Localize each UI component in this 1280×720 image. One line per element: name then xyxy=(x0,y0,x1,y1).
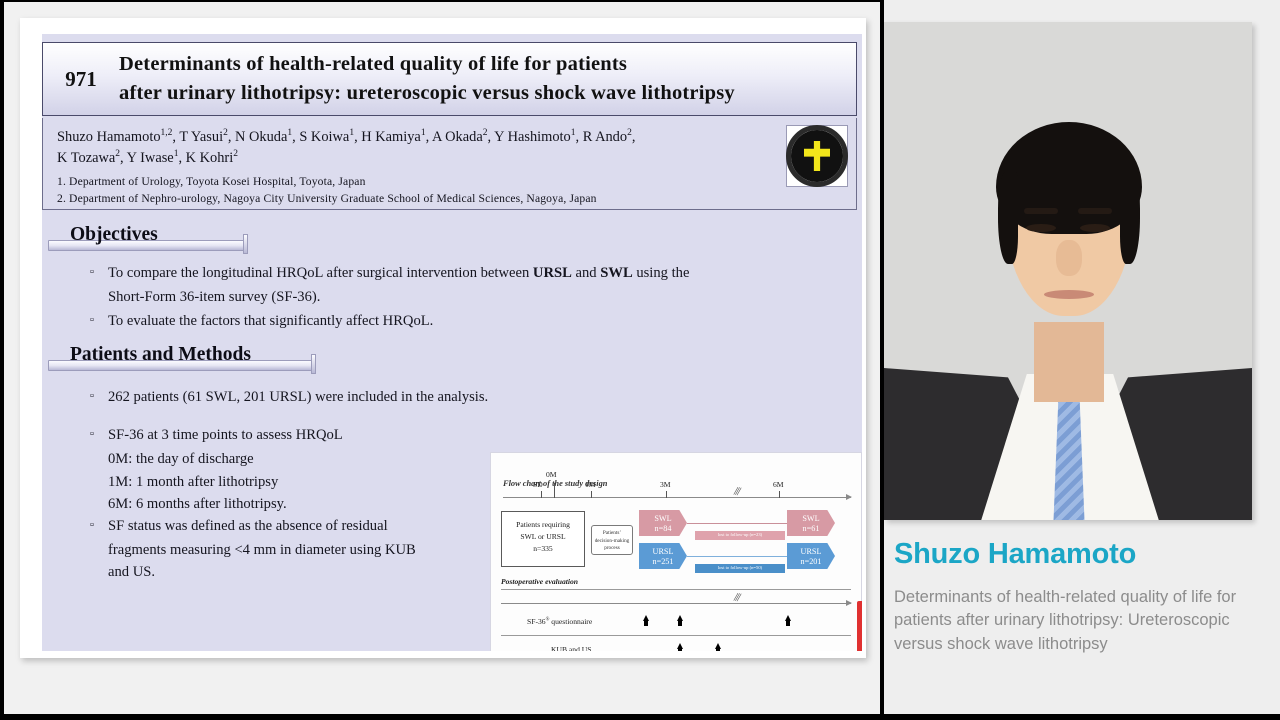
sf36-marker-6m-icon xyxy=(785,615,791,621)
poster-title-line1: Determinants of health-related quality o… xyxy=(119,50,735,79)
source-cohort-box: Patients requiring SWL or URSL n=335 xyxy=(501,511,585,567)
objective-1-bold-ursl: URSL xyxy=(533,265,572,281)
sf36-marker-1m-icon xyxy=(677,615,683,621)
list-item-continuation: Short-Form 36-item survey (SF-36). xyxy=(90,286,830,308)
rule-after-sf36 xyxy=(501,635,851,636)
decision-process-box: Patients’ decision-making process xyxy=(591,525,633,555)
timeline-label-0m: 0M xyxy=(546,470,557,479)
talk-title: Determinants of health-related quality o… xyxy=(894,586,1266,656)
decision-line1: Patients’ xyxy=(592,530,632,538)
swl-start-label: SWL xyxy=(639,514,687,524)
objective-1-line2: Short-Form 36-item survey (SF-36). xyxy=(108,286,830,308)
author-list: Shuzo Hamamoto1,2, T Yasui2, N Okuda1, S… xyxy=(57,127,772,169)
row-label-sf36: SF-36® questionnaire xyxy=(527,617,592,626)
section-objectives-header: Objectives xyxy=(48,224,248,251)
bullet-marker-icon: ▫ xyxy=(90,310,108,332)
timeline-label-3m: 3M xyxy=(660,480,671,489)
bullet-spacer xyxy=(90,286,108,308)
author-block: Shuzo Hamamoto1,2, T Yasui2, N Okuda1, S… xyxy=(42,118,857,210)
source-cohort-n: n=335 xyxy=(502,543,584,555)
timeline-axis xyxy=(503,497,851,498)
poster-title-block: 971 Determinants of health-related quali… xyxy=(42,42,857,116)
section-methods-header: Patients and Methods xyxy=(48,344,316,371)
timeline-label-sd: SD xyxy=(533,480,543,489)
photo-eye-right xyxy=(1080,224,1110,232)
postoperative-heading: Postoperative evaluation xyxy=(501,577,578,586)
methods-sf-status-line1: SF status was defined as the absence of … xyxy=(108,515,510,537)
ursl-start-label: URSL xyxy=(639,547,687,557)
swl-lost-followup: lost to follow-up (n=23) xyxy=(695,531,785,540)
photo-mouth xyxy=(1044,290,1094,299)
poster-title-line2: after urinary lithotripsy: ureteroscopic… xyxy=(119,79,735,108)
objectives-bullets: ▫ To compare the longitudinal HRQoL afte… xyxy=(90,262,830,335)
photo-brow-left xyxy=(1024,208,1058,214)
poster-title: Determinants of health-related quality o… xyxy=(119,50,735,108)
bullet-marker-icon: ▫ xyxy=(90,262,108,284)
ursl-start-node: URSL n=251 xyxy=(639,543,687,569)
list-item: ▫ To compare the longitudinal HRQoL afte… xyxy=(90,262,830,284)
tick-3m xyxy=(666,491,667,498)
photo-neck xyxy=(1034,322,1104,402)
swl-end-n: n=61 xyxy=(787,524,835,534)
row-label-kub-us: KUB and US xyxy=(551,645,592,651)
list-item: ▫ 262 patients (61 SWL, 201 URSL) were i… xyxy=(90,386,510,408)
window-bottom-bar xyxy=(0,714,1280,720)
affiliation-1: 1. Department of Urology, Toyota Kosei H… xyxy=(57,173,842,190)
objective-1-text: To compare the longitudinal HRQoL after … xyxy=(108,262,830,284)
list-item: ▫ To evaluate the factors that significa… xyxy=(90,310,830,332)
slide-card: 971 Determinants of health-related quali… xyxy=(20,18,866,658)
decision-line3: process xyxy=(592,545,632,553)
kub-marker-1m-icon xyxy=(677,643,683,649)
timeline-label-6m: 6M xyxy=(773,480,784,489)
ursl-end-node: URSL n=201 xyxy=(787,543,835,569)
ursl-connector xyxy=(687,556,791,557)
ursl-lost-followup: lost to follow-up (n=50) xyxy=(695,564,785,573)
list-item: ▫ SF status was defined as the absence o… xyxy=(90,515,510,537)
tick-sd xyxy=(541,491,542,498)
society-logo xyxy=(786,125,848,187)
methods-sf-status-line3: and US. xyxy=(90,561,510,583)
ursl-start-n: n=251 xyxy=(639,557,687,567)
methods-timepoint-1m: 1M: 1 month after lithotripsy xyxy=(90,471,510,493)
swl-end-label: SWL xyxy=(787,514,835,524)
source-cohort-line2: SWL or URSL xyxy=(502,531,584,543)
photo-nose xyxy=(1056,240,1082,276)
source-cohort-line1: Patients requiring xyxy=(502,519,584,531)
tick-1m xyxy=(591,491,592,498)
objective-1-pre: To compare the longitudinal HRQoL after … xyxy=(108,265,533,281)
postop-rule-top xyxy=(501,589,851,590)
objective-2-text: To evaluate the factors that significant… xyxy=(108,310,830,332)
tick-0m xyxy=(554,483,555,498)
author-line-1: Shuzo Hamamoto1,2, T Yasui2, N Okuda1, S… xyxy=(57,127,772,148)
logo-emblem-icon xyxy=(804,141,830,171)
speaker-name: Shuzo Hamamoto xyxy=(894,538,1136,571)
logo-circle-icon xyxy=(791,130,843,182)
methods-timepoint-6m: 6M: 6 months after lithotripsy. xyxy=(90,493,510,515)
methods-sf-status-line2: fragments measuring <4 mm in diameter us… xyxy=(90,539,510,561)
swl-connector xyxy=(687,523,791,524)
photo-brow-right xyxy=(1078,208,1112,214)
bullet-marker-icon: ▫ xyxy=(90,515,108,537)
objectives-heading: Objectives xyxy=(48,224,248,246)
sf36-marker-0m-icon xyxy=(643,615,649,621)
swl-end-node: SWL n=61 xyxy=(787,510,835,536)
bullet-marker-icon: ▫ xyxy=(90,424,108,446)
bullet-marker-icon: ▫ xyxy=(90,386,108,408)
slide-progress-indicator[interactable] xyxy=(857,601,862,651)
methods-timepoint-0m: 0M: the day of discharge xyxy=(90,448,510,470)
methods-patients-text: 262 patients (61 SWL, 201 URSL) were inc… xyxy=(108,386,510,408)
methods-heading: Patients and Methods xyxy=(48,344,316,366)
objective-1-mid: and xyxy=(572,265,600,281)
photo-hair-right xyxy=(1120,172,1140,264)
affiliation-2: 2. Department of Nephro-urology, Nagoya … xyxy=(57,190,842,207)
app-window: 971 Determinants of health-related quali… xyxy=(0,0,1280,720)
kub-marker-3m-icon xyxy=(715,643,721,649)
slide-viewer[interactable]: 971 Determinants of health-related quali… xyxy=(4,2,880,714)
tick-6m xyxy=(779,491,780,498)
speaker-info-panel: Shuzo Hamamoto Determinants of health-re… xyxy=(884,0,1280,720)
author-line-2: K Tozawa2, Y Iwase1, K Kohri2 xyxy=(57,148,772,169)
swl-start-node: SWL n=84 xyxy=(639,510,687,536)
objective-1-bold-swl: SWL xyxy=(600,265,632,281)
methods-bullets: ▫ 262 patients (61 SWL, 201 URSL) were i… xyxy=(90,386,510,583)
list-item: ▫ SF-36 at 3 time points to assess HRQoL xyxy=(90,424,510,446)
photo-hair-left xyxy=(998,172,1018,264)
postop-timeline-axis xyxy=(501,603,851,604)
poster-number: 971 xyxy=(43,67,119,92)
ursl-end-n: n=201 xyxy=(787,557,835,567)
swl-start-n: n=84 xyxy=(639,524,687,534)
methods-sf36-text: SF-36 at 3 time points to assess HRQoL xyxy=(108,424,510,446)
decision-line2: decision-making xyxy=(592,538,632,546)
poster-slide: 971 Determinants of health-related quali… xyxy=(42,34,862,651)
ursl-end-label: URSL xyxy=(787,547,835,557)
timeline-label-1m: 1M xyxy=(585,480,596,489)
photo-eye-left xyxy=(1026,224,1056,232)
study-design-flowchart: Flow chart of the study design SD 0M 1M … xyxy=(490,452,862,651)
speaker-photo xyxy=(884,22,1252,520)
objective-1-post: using the xyxy=(633,265,690,281)
row-label-sf36-text: SF-36® questionnaire xyxy=(527,617,592,626)
